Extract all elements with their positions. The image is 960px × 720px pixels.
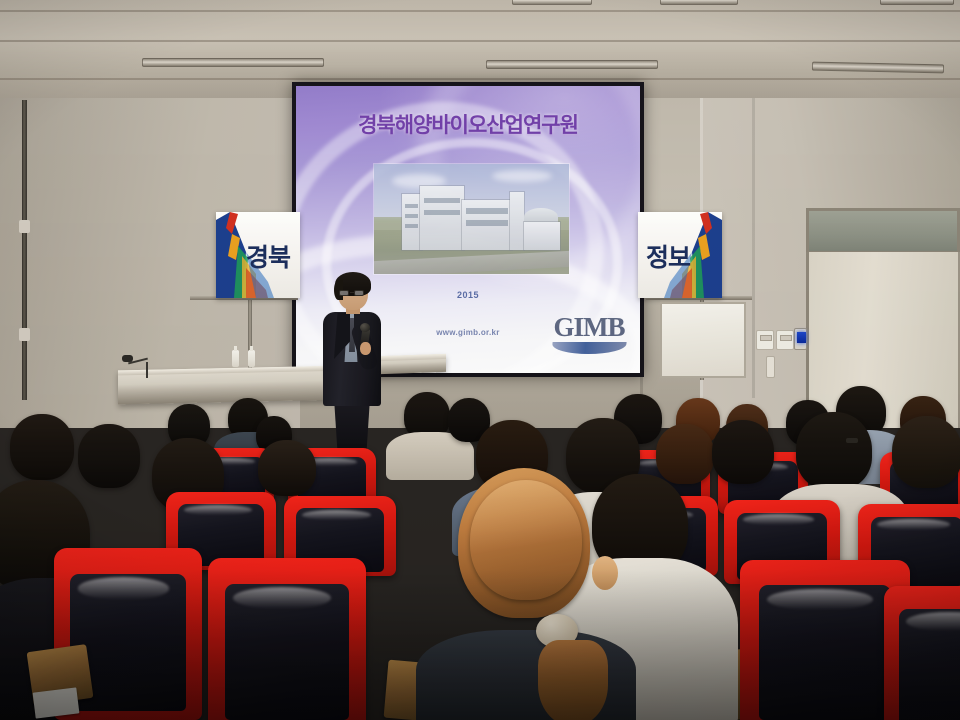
- auditorium-chair: [884, 586, 960, 720]
- banner-right: 정보: [638, 212, 722, 298]
- ceiling-air-vent: [142, 58, 324, 67]
- photo-building-main: [420, 186, 464, 250]
- photo-window-band: [405, 214, 418, 218]
- light-switch-plate[interactable]: [756, 330, 774, 350]
- audience-head: [78, 424, 140, 488]
- ceiling-air-vent: [486, 60, 658, 69]
- chair-highlight: [767, 589, 872, 611]
- wall-whiteboard: [660, 302, 746, 378]
- ceiling-air-vent: [880, 0, 954, 5]
- light-switch-plate[interactable]: [776, 330, 794, 350]
- blue-indicator-panel[interactable]: [794, 328, 807, 350]
- front-row-ponytail: [538, 640, 608, 720]
- audience-glasses: [846, 438, 858, 443]
- gimb-logo-swoosh: [551, 342, 626, 354]
- paper-handout: [33, 687, 80, 718]
- presenter: [318, 272, 386, 450]
- front-row-hair-highlight: [470, 480, 582, 600]
- photo-window-band: [405, 224, 418, 228]
- slide-title: 경북해양바이오산업연구원: [296, 109, 640, 139]
- photo-building-annex: [524, 222, 560, 250]
- water-bottle: [248, 350, 255, 367]
- ceiling-seam: [0, 10, 960, 12]
- banner-left-label: 경북: [246, 238, 290, 274]
- presenter-glasses-bridge: [350, 292, 354, 293]
- microphone-head: [122, 355, 133, 362]
- presenter-hand: [360, 342, 371, 355]
- wall-joint: [752, 98, 755, 398]
- photo-window-band: [466, 208, 508, 214]
- audience-head: [10, 414, 74, 480]
- photo-building-wing: [402, 194, 422, 250]
- front-row-ear: [592, 556, 618, 590]
- photo-building-tower: [510, 192, 524, 250]
- wall-conduit-pipe: [22, 100, 27, 400]
- wall-sensor: [766, 356, 775, 378]
- presenter-legs: [332, 404, 372, 454]
- ceiling-seam: [0, 78, 960, 80]
- photo-window-band: [424, 210, 460, 215]
- photo-cloud: [492, 170, 552, 182]
- light-switch-rocker[interactable]: [780, 335, 792, 341]
- photo-window-band: [466, 220, 508, 226]
- microphone-capsule: [360, 323, 370, 332]
- lecture-hall-photo: 경북해양바이오산업연구원: [0, 0, 960, 720]
- pipe-clip: [19, 328, 30, 341]
- presenter-table: [118, 366, 348, 405]
- water-bottle: [232, 350, 239, 367]
- chair-highlight: [233, 587, 331, 609]
- ceiling-air-vent: [512, 0, 592, 5]
- audience-head: [892, 416, 960, 488]
- audience-head: [656, 424, 714, 484]
- audience-head: [796, 412, 872, 490]
- photo-window-band: [424, 198, 460, 203]
- banner-right-label: 정보: [646, 238, 690, 274]
- chair-highlight: [877, 519, 950, 530]
- chair-highlight: [78, 577, 170, 599]
- ceiling-seam: [0, 40, 960, 42]
- pipe-clip: [19, 220, 30, 233]
- photo-window-band: [405, 204, 418, 208]
- gimb-logo-text: GIMB: [552, 314, 626, 341]
- slide-building-photo: [374, 164, 569, 274]
- presenter-glasses: [339, 290, 349, 296]
- presenter-glasses: [354, 290, 364, 296]
- gimb-logo: GIMB: [552, 314, 626, 354]
- blue-indicator-led: [797, 332, 806, 343]
- door-transom-window: [806, 208, 960, 254]
- chair-highlight: [302, 510, 371, 520]
- light-switch-rocker[interactable]: [760, 335, 772, 341]
- ceiling-air-vent: [660, 0, 738, 5]
- audience-head: [258, 440, 316, 496]
- banner-left: 경북: [216, 212, 300, 298]
- podium-gooseneck-microphone: [146, 362, 148, 378]
- auditorium-chair: [208, 558, 366, 720]
- audience-head: [712, 420, 774, 484]
